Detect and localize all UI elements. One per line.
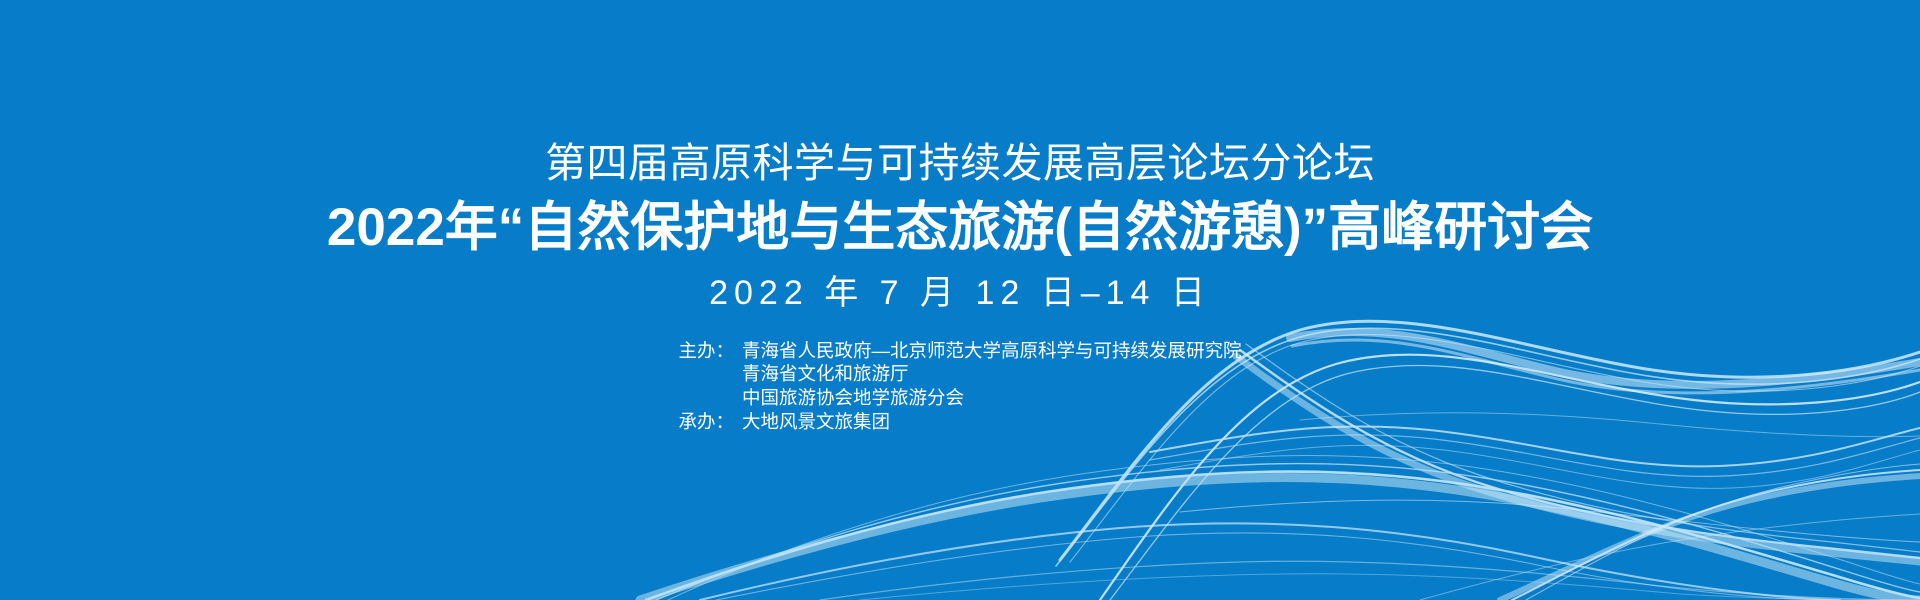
organizer-row: 承办： 大地风景文旅集团 — [678, 410, 1241, 434]
organizer-row: 中国旅游协会地学旅游分会 — [678, 386, 1241, 410]
organizer-label: 主办： — [678, 339, 742, 363]
organizer-value: 中国旅游协会地学旅游分会 — [742, 386, 1242, 410]
page-title: 2022年“自然保护地与生态旅游(自然游憩)”高峰研讨会 — [0, 199, 1920, 257]
organizers-table: 主办： 青海省人民政府—北京师范大学高原科学与可持续发展研究院 青海省文化和旅游… — [678, 339, 1241, 434]
organizers-block: 主办： 青海省人民政府—北京师范大学高原科学与可持续发展研究院 青海省文化和旅游… — [0, 339, 1920, 434]
organizer-row: 主办： 青海省人民政府—北京师范大学高原科学与可持续发展研究院 — [678, 339, 1241, 363]
organizer-value: 青海省人民政府—北京师范大学高原科学与可持续发展研究院 — [742, 339, 1242, 363]
organizer-label: 承办： — [678, 410, 742, 434]
conference-banner: 第四届高原科学与可持续发展高层论坛分论坛 2022年“自然保护地与生态旅游(自然… — [0, 0, 1920, 600]
forum-series-line: 第四届高原科学与可持续发展高层论坛分论坛 — [0, 141, 1920, 187]
organizer-value: 大地风景文旅集团 — [742, 410, 1242, 434]
organizer-row: 青海省文化和旅游厅 — [678, 362, 1241, 386]
organizer-label — [678, 362, 742, 386]
banner-text-stack: 第四届高原科学与可持续发展高层论坛分论坛 2022年“自然保护地与生态旅游(自然… — [0, 0, 1920, 433]
organizer-value: 青海省文化和旅游厅 — [742, 362, 1242, 386]
event-date: 2022 年 7 月 12 日–14 日 — [0, 275, 1920, 312]
organizer-label — [678, 386, 742, 410]
